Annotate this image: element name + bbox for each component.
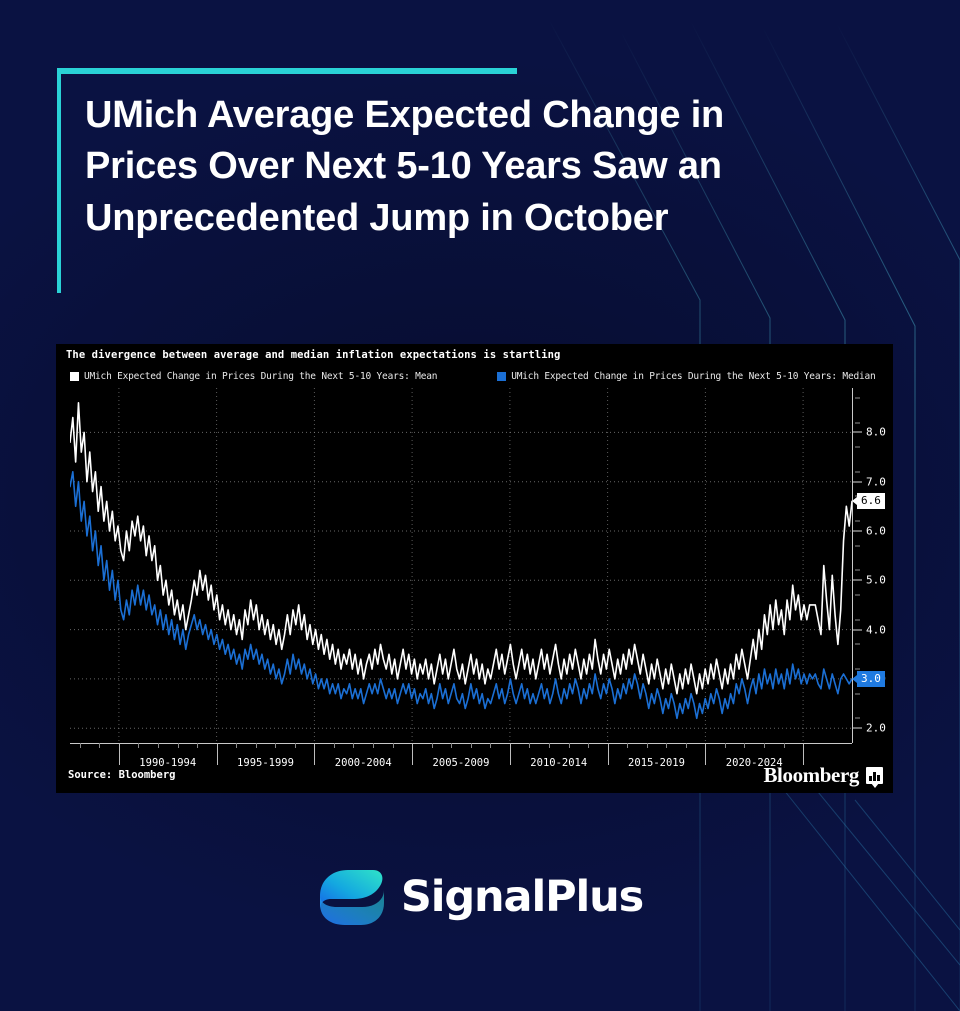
x-tick-mark-minor (353, 743, 354, 748)
y-tick-label: 5.0 (866, 574, 886, 587)
x-tick-mark-minor (334, 743, 335, 748)
x-tick-mark (705, 743, 706, 765)
y-tick-label: 7.0 (866, 475, 886, 488)
x-tick-mark (608, 743, 609, 765)
page-title-line-3: Unprecedented Jump in October (85, 193, 855, 244)
page-title: UMich Average Expected Change in Prices … (85, 90, 855, 244)
y-tick-mark (853, 530, 862, 531)
y-tick-mark (853, 629, 862, 630)
x-tick-mark (314, 743, 315, 765)
page-title-line-1: UMich Average Expected Change in (85, 90, 855, 141)
y-tick-mark-minor (855, 521, 860, 522)
x-tick-mark (412, 743, 413, 765)
x-tick-mark-minor (99, 743, 100, 748)
legend-swatch-median-icon (497, 372, 506, 381)
chart-footer: Source: Bloomberg Bloomberg (56, 763, 893, 793)
signalplus-mark-icon (317, 866, 387, 928)
y-tick-label: 6.0 (866, 524, 886, 537)
x-tick-mark-minor (138, 743, 139, 748)
y-tick-mark (853, 728, 862, 729)
y-tick-mark-minor (855, 693, 860, 694)
page-title-line-2: Prices Over Next 5-10 Years Saw an (85, 141, 855, 192)
x-tick-mark (119, 743, 120, 765)
legend-label-mean: UMich Expected Change in Prices During t… (84, 371, 437, 382)
x-tick-mark-minor (549, 743, 550, 748)
x-tick-mark-minor (784, 743, 785, 748)
y-tick-mark-minor (855, 570, 860, 571)
x-tick-mark-minor (178, 743, 179, 748)
x-axis-line (70, 743, 852, 744)
legend-swatch-mean-icon (70, 372, 79, 381)
chart-legend: UMich Expected Change in Prices During t… (70, 368, 849, 385)
y-tick-mark (853, 580, 862, 581)
y-tick-mark-minor (855, 718, 860, 719)
bloomberg-logo: Bloomberg (763, 763, 883, 788)
y-tick-mark-minor (855, 545, 860, 546)
x-tick-mark-minor (471, 743, 472, 748)
x-tick-mark-minor (744, 743, 745, 748)
y-tick-label: 2.0 (866, 722, 886, 735)
accent-bar-vertical (57, 68, 61, 293)
x-tick-mark (217, 743, 218, 765)
mean-last-value-badge: 6.6 (857, 493, 885, 509)
y-axis-line (852, 388, 853, 743)
x-tick-mark-minor (373, 743, 374, 748)
x-tick-mark-minor (236, 743, 237, 748)
y-tick-mark-minor (855, 619, 860, 620)
y-tick-mark-minor (855, 422, 860, 423)
x-tick-mark-minor (158, 743, 159, 748)
y-tick-mark-minor (855, 669, 860, 670)
chart-title: The divergence between average and media… (66, 349, 560, 361)
x-tick-mark-minor (490, 743, 491, 748)
x-tick-mark-minor (569, 743, 570, 748)
y-tick-mark (853, 432, 862, 433)
legend-label-median: UMich Expected Change in Prices During t… (511, 371, 875, 382)
x-tick-mark-minor (725, 743, 726, 748)
accent-bar-horizontal (57, 68, 517, 74)
y-tick-mark-minor (855, 397, 860, 398)
y-tick-label: 4.0 (866, 623, 886, 636)
bloomberg-wordmark: Bloomberg (763, 763, 859, 788)
x-tick-mark-minor (588, 743, 589, 748)
bloomberg-terminal-icon (866, 767, 883, 784)
signalplus-wordmark: SignalPlus (401, 872, 643, 922)
y-tick-mark-minor (855, 471, 860, 472)
x-tick-mark-minor (627, 743, 628, 748)
y-tick-mark-minor (855, 595, 860, 596)
x-tick-mark-minor (451, 743, 452, 748)
bloomberg-chart-panel: The divergence between average and media… (56, 344, 893, 793)
x-tick-mark-minor (647, 743, 648, 748)
chart-y-axis: 8.07.06.05.04.03.02.06.63.0 (852, 388, 893, 743)
y-tick-label: 8.0 (866, 426, 886, 439)
y-tick-mark-minor (855, 644, 860, 645)
x-tick-mark-minor (275, 743, 276, 748)
chart-plot-area (70, 388, 852, 743)
legend-item-median[interactable]: UMich Expected Change in Prices During t… (497, 371, 875, 382)
x-tick-mark-minor (80, 743, 81, 748)
median-last-value-badge: 3.0 (857, 671, 885, 687)
chart-source: Source: Bloomberg (68, 769, 175, 781)
x-tick-mark (510, 743, 511, 765)
x-tick-mark-minor (529, 743, 530, 748)
x-tick-mark-minor (686, 743, 687, 748)
x-tick-mark-minor (295, 743, 296, 748)
x-tick-mark-minor (393, 743, 394, 748)
x-tick-mark-minor (432, 743, 433, 748)
headline-block: UMich Average Expected Change in Prices … (57, 68, 857, 293)
x-tick-mark (803, 743, 804, 765)
signalplus-logo: SignalPlus (0, 866, 960, 928)
x-tick-mark-minor (256, 743, 257, 748)
x-tick-mark-minor (764, 743, 765, 748)
chart-svg (70, 388, 852, 743)
x-tick-mark-minor (197, 743, 198, 748)
y-tick-mark (853, 481, 862, 482)
y-tick-mark-minor (855, 447, 860, 448)
legend-item-mean[interactable]: UMich Expected Change in Prices During t… (70, 371, 437, 382)
x-tick-mark-minor (666, 743, 667, 748)
